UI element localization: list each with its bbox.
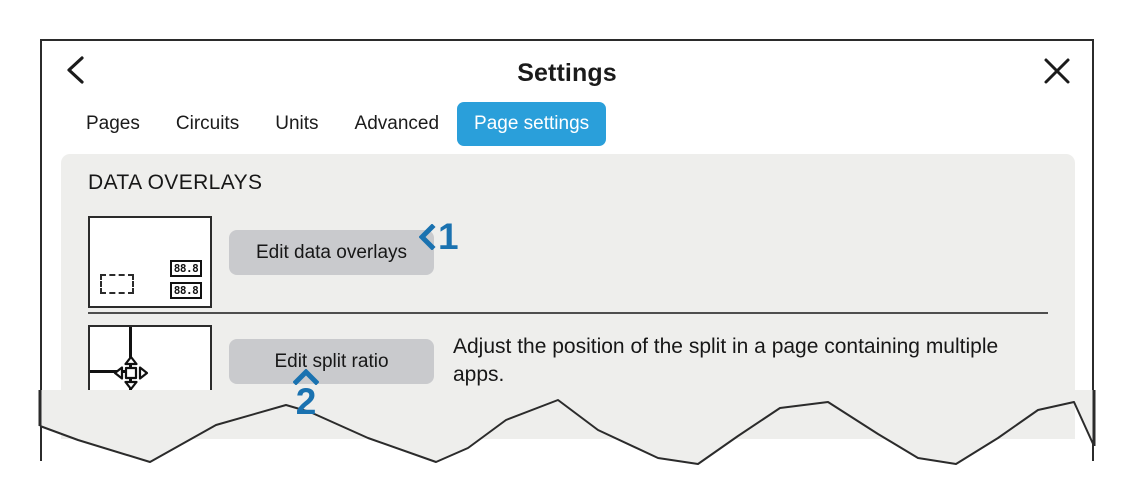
- tab-bar: Pages Circuits Units Advanced Page setti…: [68, 102, 606, 146]
- dialog-titlebar: Settings: [42, 41, 1092, 103]
- annotation-number: 1: [438, 218, 459, 255]
- edit-split-ratio-button[interactable]: Edit split ratio: [229, 339, 434, 384]
- empty-overlay-slot-icon: [100, 274, 134, 294]
- data-overlay-thumbnail: 88.8 88.8: [88, 216, 212, 308]
- screen: Settings Pages Circuits Units Advanced P…: [0, 0, 1135, 500]
- overlay-display-icon: 88.8: [170, 260, 202, 277]
- tab-advanced[interactable]: Advanced: [337, 104, 458, 144]
- edit-data-overlays-button[interactable]: Edit data overlays: [229, 230, 434, 275]
- tab-circuits[interactable]: Circuits: [158, 104, 257, 144]
- annotation-number: 2: [296, 385, 317, 419]
- close-x-icon: [1040, 54, 1074, 88]
- split-ratio-description: Adjust the position of the split in a pa…: [453, 333, 1053, 389]
- close-button[interactable]: [1040, 54, 1074, 88]
- row-divider: [88, 312, 1048, 314]
- setting-row-data-overlays: 88.8 88.8 Edit data overlays: [61, 208, 1075, 318]
- overlay-display-icon: 88.8: [170, 282, 202, 299]
- section-heading-data-overlays: DATA OVERLAYS: [88, 171, 262, 195]
- page-title: Settings: [42, 59, 1092, 88]
- tab-pages[interactable]: Pages: [68, 104, 158, 144]
- move-four-way-icon: [111, 353, 151, 393]
- torn-paper-edge: [38, 390, 1096, 470]
- tab-page-settings[interactable]: Page settings: [457, 102, 606, 146]
- tab-units[interactable]: Units: [257, 104, 336, 144]
- chevron-left-icon: [419, 224, 436, 250]
- annotation-marker-2: 2: [293, 369, 319, 419]
- annotation-marker-1: 1: [419, 218, 459, 255]
